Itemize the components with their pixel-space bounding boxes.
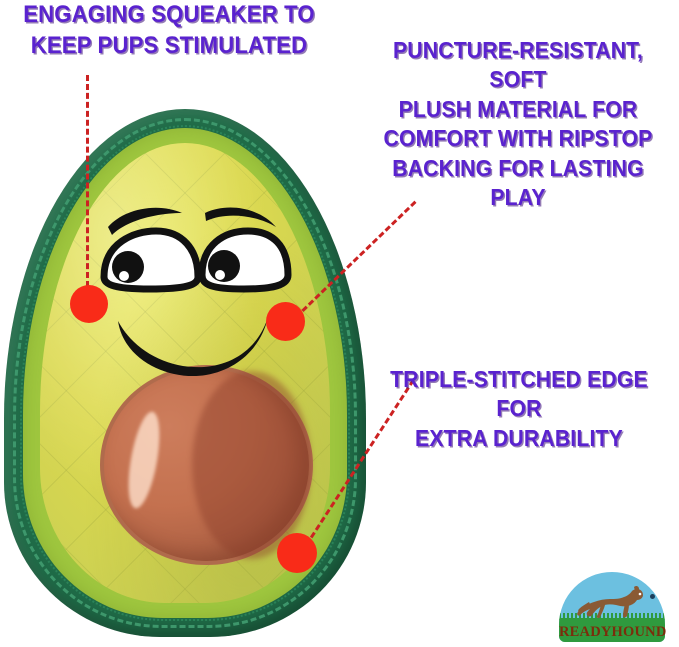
brand-name-text: READYHOUND bbox=[559, 624, 665, 641]
avocado-plush-toy bbox=[0, 103, 372, 643]
marker-dot-stitching bbox=[277, 533, 317, 573]
brand-badge: READYHOUND bbox=[559, 572, 665, 642]
badge-accent-dot bbox=[650, 594, 655, 599]
product-infographic: ENGAGING SQUEAKER TO KEEP PUPS STIMULATE… bbox=[0, 0, 679, 647]
eye-glint-right-icon bbox=[215, 270, 225, 280]
callout-text-squeaker: ENGAGING SQUEAKER TO KEEP PUPS STIMULATE… bbox=[17, 0, 321, 61]
embroidered-face bbox=[0, 103, 372, 643]
callout-text-material: PUNCTURE-RESISTANT, SOFT PLUSH MATERIAL … bbox=[371, 36, 665, 213]
eye-glint-left-icon bbox=[119, 271, 129, 281]
leader-line-squeaker bbox=[86, 75, 89, 287]
marker-dot-material bbox=[266, 302, 305, 341]
mouth-smile-icon bbox=[118, 317, 268, 376]
leaping-dog-icon bbox=[577, 584, 647, 622]
eyebrow-right-icon bbox=[205, 208, 276, 227]
callout-text-stitching: TRIPLE-STITCHED EDGE FOR EXTRA DURABILIT… bbox=[373, 365, 666, 453]
marker-dot-squeaker bbox=[70, 285, 108, 323]
